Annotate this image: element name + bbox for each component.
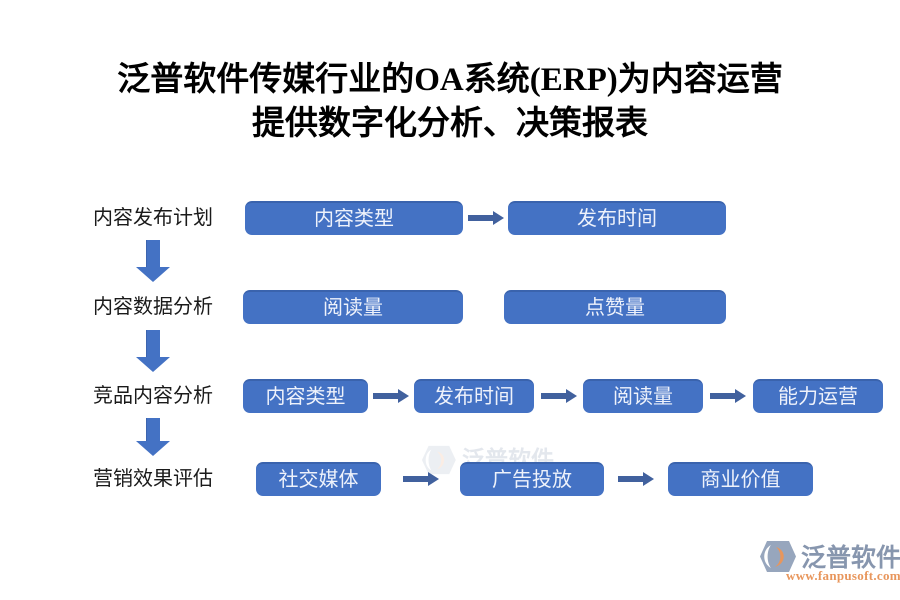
flow-row: 内容发布计划内容类型发布时间: [0, 198, 900, 238]
flow-arrow-right-icon: [403, 472, 439, 486]
flow-row: 竞品内容分析内容类型发布时间阅读量能力运营: [0, 376, 900, 416]
flow-row: 营销效果评估社交媒体广告投放商业价值: [0, 459, 900, 499]
flow-node[interactable]: 点赞量: [504, 290, 726, 324]
flow-arrow-right-icon: [710, 389, 746, 403]
flow-node[interactable]: 内容类型: [245, 201, 463, 235]
brand-logo: 泛普软件 www.fanpusoft.com: [757, 538, 897, 590]
flow-row: 内容数据分析阅读量点赞量: [0, 287, 900, 327]
flow-node[interactable]: 发布时间: [508, 201, 726, 235]
flow-arrow-right-icon: [373, 389, 409, 403]
flow-row-label: 竞品内容分析: [78, 376, 228, 416]
flow-node[interactable]: 社交媒体: [256, 462, 381, 496]
flow-node[interactable]: 阅读量: [243, 290, 463, 324]
flow-row-label: 内容发布计划: [78, 198, 228, 238]
flow-node[interactable]: 阅读量: [583, 379, 703, 413]
brand-logo-url: www.fanpusoft.com: [786, 568, 900, 584]
flow-node[interactable]: 内容类型: [243, 379, 368, 413]
flow-arrow-right-icon: [541, 389, 577, 403]
flow-row-label: 营销效果评估: [78, 459, 228, 499]
flow-arrow-right-icon: [468, 211, 504, 225]
flow-row-label: 内容数据分析: [78, 287, 228, 327]
flow-arrow-right-icon: [618, 472, 654, 486]
flow-node[interactable]: 广告投放: [460, 462, 604, 496]
flow-node[interactable]: 能力运营: [753, 379, 883, 413]
flow-node[interactable]: 商业价值: [668, 462, 813, 496]
flow-arrow-down-icon: [136, 240, 170, 282]
flow-arrow-down-icon: [136, 330, 170, 372]
flowchart: 内容发布计划内容类型发布时间内容数据分析阅读量点赞量竞品内容分析内容类型发布时间…: [0, 0, 900, 600]
flow-node[interactable]: 发布时间: [414, 379, 534, 413]
flow-arrow-down-icon: [136, 418, 170, 456]
